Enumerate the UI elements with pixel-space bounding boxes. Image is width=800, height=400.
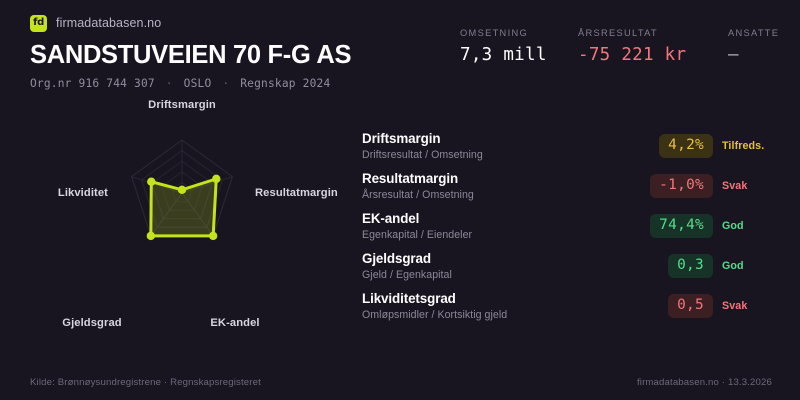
radar-label-likviditet: Likviditet [58, 187, 108, 199]
radar-point-gjeldsgrad [147, 232, 155, 240]
radar-label-driftsmargin: Driftsmargin [148, 99, 216, 111]
metric-right: 4,2% Tilfreds. [614, 134, 782, 157]
metric-row-resultatmargin: Resultatmargin Årsresultat / Omsetning -… [362, 166, 782, 206]
metric-name: Resultatmargin [362, 171, 614, 186]
metric-row-ek-andel: EK-andel Egenkapital / Eiendeler 74,4% G… [362, 206, 782, 246]
metric-value-badge: 0,3 [668, 254, 713, 277]
footer-attribution: firmadatabasen.no · 13.3.2026 [637, 377, 772, 388]
status-badge: Svak [722, 300, 782, 312]
metric-name: Likviditetsgrad [362, 291, 614, 306]
metric-text: Driftsmargin Driftsresultat / Omsetning [362, 131, 614, 162]
stat-omsetning-label: OMSETNING [460, 28, 578, 38]
metric-name: Driftsmargin [362, 131, 614, 146]
metric-text: Resultatmargin Årsresultat / Omsetning [362, 171, 614, 202]
status-badge: God [722, 220, 782, 232]
metric-text: Likviditetsgrad Omløpsmidler / Kortsikti… [362, 291, 614, 322]
metric-name: Gjeldsgrad [362, 251, 614, 266]
metric-right: 0,3 God [614, 254, 782, 277]
metric-text: EK-andel Egenkapital / Eiendeler [362, 211, 614, 242]
metrics-list: Driftsmargin Driftsresultat / Omsetning … [362, 126, 782, 326]
header-stats: OMSETNING 7,3 mill ÅRSRESULTAT -75 221 k… [460, 28, 772, 65]
metric-value-badge: 0,5 [668, 294, 713, 317]
firmadatabasen-logo-icon: fd [30, 15, 47, 32]
status-badge: Svak [722, 180, 782, 192]
stat-arsresultat-label: ÅRSRESULTAT [578, 28, 728, 38]
footer: Kilde: Brønnøysundregistrene · Regnskaps… [0, 364, 800, 400]
metric-value-badge: 74,4% [650, 214, 713, 237]
status-badge: Tilfreds. [722, 140, 782, 152]
radar-label-gjeldsgrad: Gjeldsgrad [62, 317, 122, 329]
radar-label-ek-andel: EK-andel [210, 317, 259, 329]
metric-value-badge: -1,0% [650, 174, 713, 197]
radar-chart: Driftsmargin Resultatmargin EK-andel Gje… [0, 86, 360, 336]
metric-formula: Egenkapital / Eiendeler [362, 229, 614, 241]
radar-series [147, 175, 221, 240]
metric-value-badge: 4,2% [659, 134, 713, 157]
radar-label-resultatmargin: Resultatmargin [255, 187, 338, 199]
radar-point-ek-andel [209, 232, 217, 240]
metric-text: Gjeldsgrad Gjeld / Egenkapital [362, 251, 614, 282]
footer-source: Kilde: Brønnøysundregistrene · Regnskaps… [30, 377, 261, 388]
metric-row-gjeldsgrad: Gjeldsgrad Gjeld / Egenkapital 0,3 God [362, 246, 782, 286]
metric-formula: Gjeld / Egenkapital [362, 269, 614, 281]
metric-row-driftsmargin: Driftsmargin Driftsresultat / Omsetning … [362, 126, 782, 166]
metric-right: 0,5 Svak [614, 294, 782, 317]
metric-formula: Omløpsmidler / Kortsiktig gjeld [362, 309, 614, 321]
stat-omsetning: OMSETNING 7,3 mill [460, 28, 578, 65]
stat-ansatte-label: ANSATTE [728, 28, 772, 38]
metric-right: 74,4% God [614, 214, 782, 237]
radar-chart-svg: Driftsmargin Resultatmargin EK-andel Gje… [0, 86, 360, 336]
metric-formula: Driftsresultat / Omsetning [362, 149, 614, 161]
stat-arsresultat: ÅRSRESULTAT -75 221 kr [578, 28, 728, 65]
radar-point-driftsmargin [178, 186, 186, 194]
brand-name: firmadatabasen.no [56, 16, 161, 30]
radar-point-resultatmargin [212, 175, 220, 183]
stat-ansatte: ANSATTE – [728, 28, 772, 65]
metric-formula: Årsresultat / Omsetning [362, 189, 614, 201]
company-key-figures-card: fd firmadatabasen.no SANDSTUVEIEN 70 F-G… [0, 0, 800, 400]
status-badge: God [722, 260, 782, 272]
stat-ansatte-value: – [728, 45, 772, 65]
stat-omsetning-value: 7,3 mill [460, 45, 578, 65]
metric-row-likviditetsgrad: Likviditetsgrad Omløpsmidler / Kortsikti… [362, 286, 782, 326]
metric-right: -1,0% Svak [614, 174, 782, 197]
metric-name: EK-andel [362, 211, 614, 226]
radar-point-likviditet [147, 178, 155, 186]
stat-arsresultat-value: -75 221 kr [578, 45, 728, 65]
